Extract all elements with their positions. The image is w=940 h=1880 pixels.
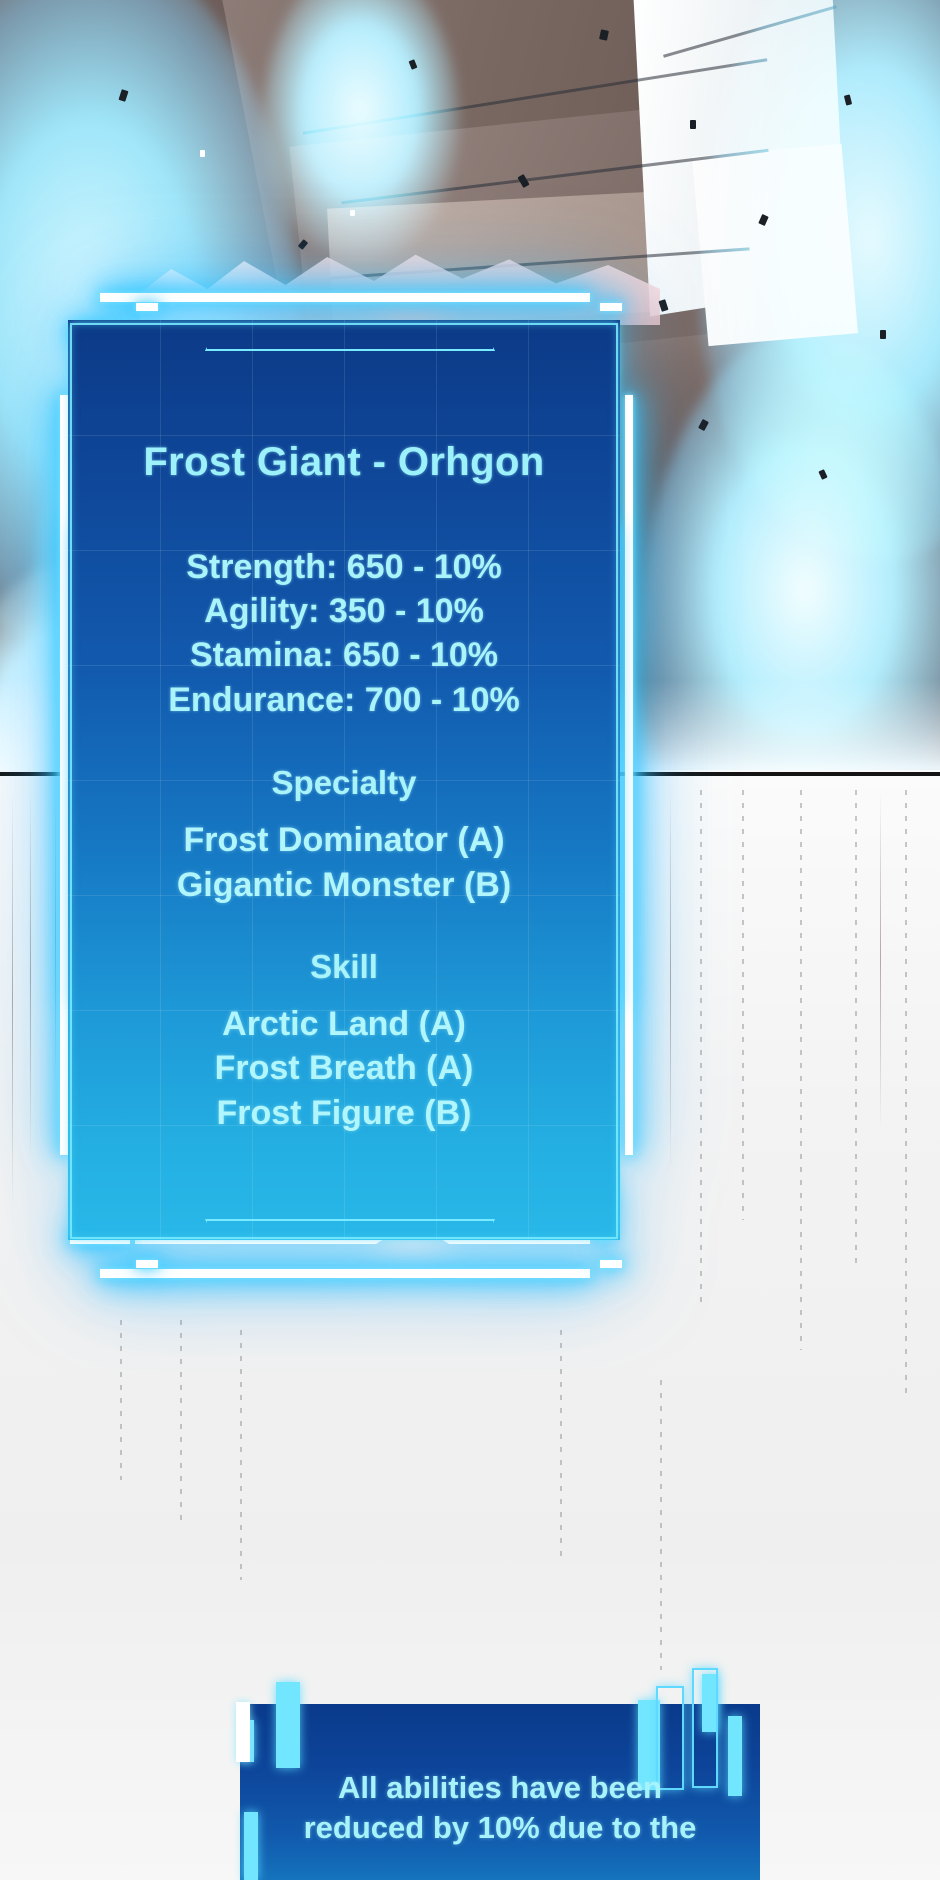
specialty-heading: Specialty <box>272 764 417 802</box>
debris-fleck <box>880 330 886 339</box>
speed-dot-line <box>905 790 907 1400</box>
frame-rail-right <box>625 395 633 1155</box>
snow-fleck <box>200 150 205 157</box>
notice-line-2: reduced by 10% due to the <box>240 1808 760 1848</box>
frame-tick-bl <box>136 1260 158 1268</box>
frame-rail-left <box>60 395 68 1155</box>
ground-hairline <box>30 790 31 1160</box>
specialty-item: Gigantic Monster (B) <box>177 863 511 908</box>
speed-dot-line <box>742 790 744 1220</box>
speed-dot-line <box>240 1330 242 1580</box>
skill-heading: Skill <box>310 948 378 986</box>
frame-tick-tl <box>136 303 158 311</box>
specialty-item: Frost Dominator (A) <box>183 818 504 863</box>
skill-item: Frost Breath (A) <box>215 1046 474 1091</box>
speed-dot-line <box>560 1330 562 1560</box>
screenshot-root: Frost Giant - Orhgon Strength: 650 - 10%… <box>0 0 940 1880</box>
card-title: Frost Giant - Orhgon <box>143 440 544 485</box>
speed-dot-line <box>855 790 857 1270</box>
character-stat-card: Frost Giant - Orhgon Strength: 650 - 10%… <box>40 275 650 1295</box>
skill-item: Arctic Land (A) <box>222 1002 466 1047</box>
stat-stamina: Stamina: 650 - 10% <box>190 633 498 677</box>
frame-tick-tr <box>600 303 622 311</box>
ground-hairline <box>12 790 13 1210</box>
notice-accent-bar <box>276 1682 300 1768</box>
stat-endurance: Endurance: 700 - 10% <box>168 678 519 722</box>
speed-dot-line <box>120 1320 122 1480</box>
frame-bar-bottom-outer <box>100 1269 590 1278</box>
ice-flame <box>260 0 460 260</box>
notice-line-1: All abilities have been <box>240 1768 760 1808</box>
speed-dot-line <box>700 790 702 1310</box>
speed-dot-line <box>800 790 802 1350</box>
skill-item: Frost Figure (B) <box>217 1091 472 1136</box>
ground-hairline <box>880 790 881 1130</box>
notice-panel: All abilities have been reduced by 10% d… <box>240 1682 760 1880</box>
ground-hairline <box>670 790 671 1170</box>
debris-fleck <box>690 120 696 129</box>
notice-accent-bar <box>236 1702 250 1762</box>
snow-fleck <box>350 210 355 216</box>
frame-bar-top-outer <box>100 293 590 302</box>
card-content: Frost Giant - Orhgon Strength: 650 - 10%… <box>68 320 620 1240</box>
frame-tick-br <box>600 1260 622 1268</box>
speed-dot-line <box>660 1380 662 1670</box>
stat-strength: Strength: 650 - 10% <box>186 545 502 589</box>
stat-agility: Agility: 350 - 10% <box>204 589 484 633</box>
notice-text: All abilities have been reduced by 10% d… <box>240 1768 760 1847</box>
speed-dot-line <box>180 1320 182 1520</box>
